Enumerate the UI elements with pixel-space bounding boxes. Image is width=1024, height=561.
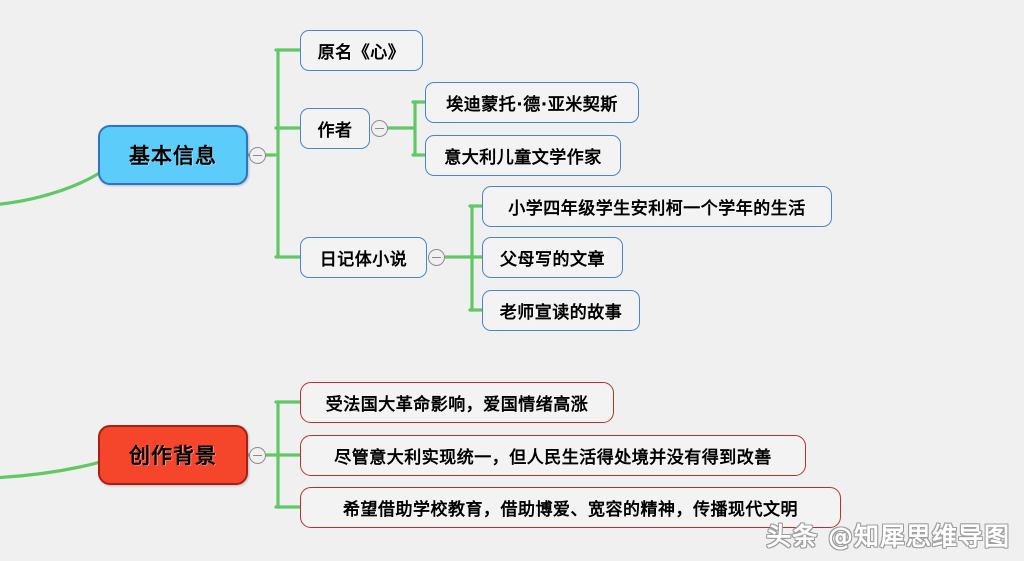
watermark: 头条 @知犀思维导图: [766, 517, 1010, 553]
collapse-toggle-diary-novel[interactable]: [428, 249, 445, 266]
mindmap-canvas: 基本信息 原名《心》 作者 埃迪蒙托·德·亚米契斯 意大利儿童文学作家 日记体小…: [0, 0, 1024, 561]
node-label: 父母写的文章: [500, 245, 605, 270]
node-bg-3[interactable]: 希望借助学校教育，借助博爱、宽容的精神，传播现代文明: [300, 487, 841, 528]
node-author[interactable]: 作者: [300, 108, 370, 149]
node-label: 原名《心》: [318, 38, 406, 63]
node-label: 老师宣读的故事: [500, 298, 623, 323]
node-basic-info[interactable]: 基本信息: [98, 125, 248, 185]
node-label: 受法国大革命影响，爱国情绪高涨: [326, 390, 589, 415]
collapse-toggle-author[interactable]: [371, 120, 388, 137]
node-bg-2[interactable]: 尽管意大利实现统一，但人民生活得处境并没有得到改善: [300, 435, 806, 476]
collapse-toggle-basic-info[interactable]: [249, 147, 266, 164]
node-label: 日记体小说: [320, 245, 408, 270]
node-label: 基本信息: [129, 140, 217, 170]
node-label: 创作背景: [129, 440, 217, 470]
node-diary-3[interactable]: 老师宣读的故事: [482, 290, 640, 331]
node-author-name[interactable]: 埃迪蒙托·德·亚米契斯: [425, 82, 639, 123]
node-label: 小学四年级学生安利柯一个学年的生活: [508, 194, 806, 219]
node-label: 希望借助学校教育，借助博爱、宽容的精神，传播现代文明: [343, 495, 798, 520]
node-label: 作者: [318, 116, 353, 141]
collapse-toggle-creation-background[interactable]: [249, 447, 266, 464]
node-creation-background[interactable]: 创作背景: [98, 425, 248, 485]
minus-icon: [375, 128, 384, 130]
node-diary-novel[interactable]: 日记体小说: [300, 237, 427, 278]
node-diary-1[interactable]: 小学四年级学生安利柯一个学年的生活: [482, 186, 832, 227]
node-label: 尽管意大利实现统一，但人民生活得处境并没有得到改善: [334, 443, 772, 468]
node-label: 埃迪蒙托·德·亚米契斯: [446, 90, 617, 115]
node-author-desc[interactable]: 意大利儿童文学作家: [425, 135, 621, 176]
node-original-title[interactable]: 原名《心》: [300, 30, 423, 71]
minus-icon: [253, 455, 262, 457]
node-label: 意大利儿童文学作家: [444, 143, 602, 168]
minus-icon: [253, 155, 262, 157]
node-bg-1[interactable]: 受法国大革命影响，爱国情绪高涨: [300, 382, 614, 423]
minus-icon: [432, 257, 441, 259]
node-diary-2[interactable]: 父母写的文章: [482, 237, 623, 278]
